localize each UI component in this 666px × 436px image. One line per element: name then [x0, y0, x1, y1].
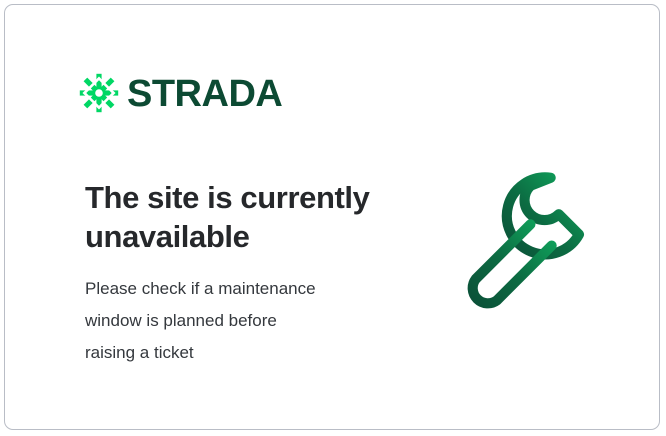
strada-asterisk-icon — [79, 73, 119, 113]
brand-logo: STRADA — [79, 73, 282, 113]
page-title: The site is currently unavailable — [85, 178, 415, 256]
brand-wordmark: STRADA — [127, 75, 282, 113]
error-page: STRADA The site is currently unavailable… — [0, 0, 666, 436]
description-line: Please check if a maintenance — [85, 273, 405, 305]
description-line: window is planned before — [85, 305, 405, 337]
page-description: Please check if a maintenance window is … — [85, 273, 405, 369]
description-line: raising a ticket — [85, 337, 405, 369]
wrench-icon — [457, 157, 619, 319]
message-card: STRADA The site is currently unavailable… — [4, 4, 660, 430]
